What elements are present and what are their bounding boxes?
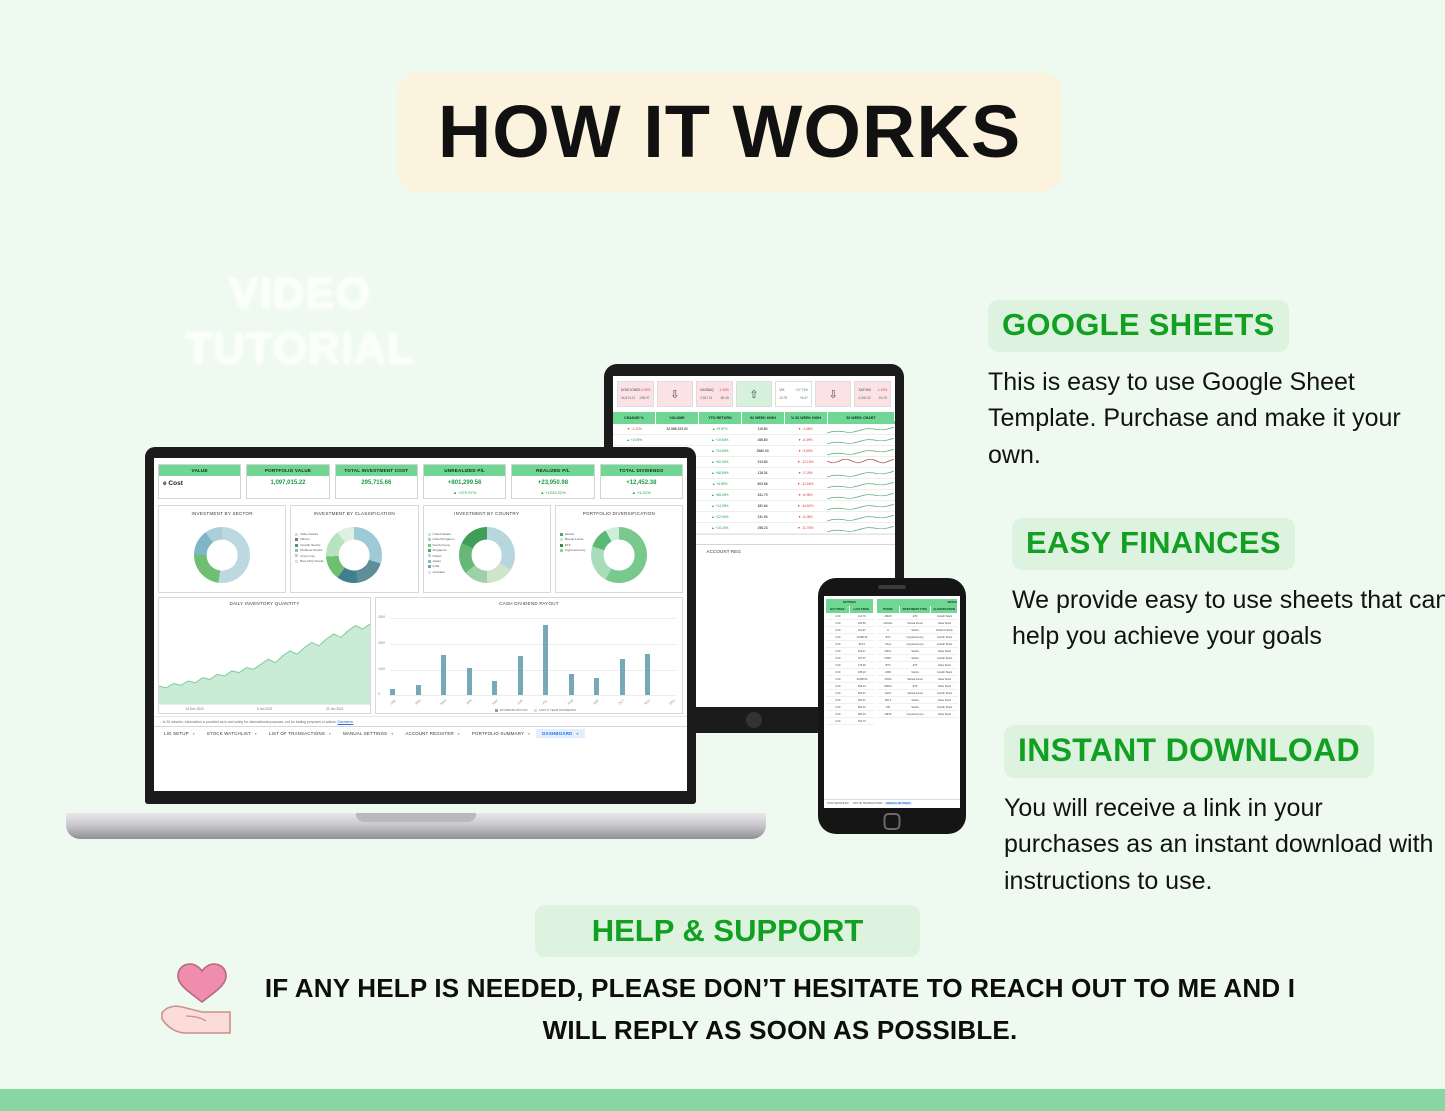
tab-item[interactable]: LIO SETUP▾ — [158, 729, 201, 738]
table-cell: 0.00 — [826, 713, 850, 716]
table-row: GOOGL Mutual Funds Value Stock — [877, 620, 958, 627]
donut-ring — [459, 527, 515, 583]
cell-change: ▲ +2.05% — [613, 438, 656, 442]
tab-item-active[interactable]: MANUAL SETTINGS — [884, 802, 912, 805]
kpi-card: TOTAL INVESTMENT COST 295,715.66 — [335, 464, 418, 499]
cell-pct-high: ▼ -11.78% — [784, 526, 827, 530]
index-delta: -54.78 — [878, 396, 887, 400]
table-cell: 902.41 — [850, 692, 874, 695]
arrow-down-icon: ⇩ — [829, 388, 838, 401]
table-cell: 180.80 — [850, 622, 874, 625]
cash-dividend-bar-chart: 3000 2000 1000 0 JANFEBMARAPRMAYJUNJULAU… — [376, 608, 682, 713]
column-header: VOLUME — [656, 412, 699, 424]
column-header: LAST PRICE — [850, 606, 874, 613]
bar — [492, 681, 497, 695]
x-tick: 04 Dec 2020 — [186, 707, 204, 711]
kpi-card: REALIZED P/L +23,950.98 ▲ +1243.22% — [511, 464, 594, 499]
bar — [645, 654, 650, 695]
feature-body: We provide easy to use sheets that can h… — [1012, 582, 1445, 655]
table-cell: Growth Stock — [931, 636, 958, 639]
table-cell: 0.00 — [826, 720, 850, 723]
table-row: 0.00180.80 — [826, 620, 874, 627]
table-cell: Stocks — [899, 650, 931, 653]
phone-right-table-title: WATCH — [877, 599, 958, 606]
table-cell: NFLX — [877, 699, 900, 702]
phone-left-table-header: BUY PRICE LAST PRICE — [826, 606, 874, 613]
table-row: TSLA Cryptocurrency Growth Stock — [877, 641, 958, 648]
table-cell: ETF — [899, 664, 931, 667]
x-tick: AUG — [566, 698, 574, 705]
kpi-row: VALUE e Cost PORTFOLIO VALUE 1,097,015.2… — [154, 458, 687, 503]
table-cell: 114.79 — [850, 615, 874, 618]
table-row: ▼ -1.12% 32,568,193.00 ▲ +9.57% 119.80 ▼… — [613, 424, 895, 435]
laptop-device: VALUE e Cost PORTFOLIO VALUE 1,097,015.2… — [66, 447, 766, 839]
table-row: 0.00962.32 — [826, 704, 874, 711]
table-row: BTC ETF Value Stock — [877, 662, 958, 669]
laptop-lid: VALUE e Cost PORTFOLIO VALUE 1,097,015.2… — [145, 447, 696, 804]
table-cell: 0.00 — [826, 692, 850, 695]
index-name: DOW JONES — [621, 388, 640, 392]
index-card-arrow-down: ⇩ — [815, 381, 852, 407]
cell-pct-high: ▼ -6.28% — [784, 515, 827, 519]
cell-sparkline — [827, 436, 895, 445]
x-tick: APR — [466, 698, 473, 705]
area-chart-svg — [159, 608, 370, 713]
table-cell: Value Stock — [931, 699, 958, 702]
table-cell: Value Stock — [931, 713, 958, 716]
tablet-table-header: CHANGE % VOLUME YTD RETURN 52 WEEK HIGH … — [613, 412, 895, 424]
feature-heading: GOOGLE SHEETS — [988, 300, 1289, 352]
cell-pct-high: ▼ -2.19% — [784, 471, 827, 475]
index-value: 34,514.21 — [621, 396, 635, 400]
index-delta: -298.97 — [639, 396, 650, 400]
cell-sparkline — [827, 513, 895, 522]
index-value: 2,847.01 — [700, 396, 712, 400]
cell-pct-high: ▼ -3.60% — [784, 449, 827, 453]
table-cell: 941.73 — [850, 720, 874, 723]
column-header: CHANGE % — [613, 412, 656, 424]
tab-item[interactable]: TOCK WATCHLIST — [825, 802, 851, 805]
donut-legend: StocksMutual FundsETFCryptocurrency — [560, 532, 586, 554]
donut-ring — [326, 527, 382, 583]
tab-item[interactable]: MANUAL SETTINGS▾ — [337, 729, 399, 738]
table-row: 0.0086.12 — [826, 641, 874, 648]
index-delta: +6.07 — [800, 396, 808, 400]
table-cell: 0.00 — [826, 657, 850, 660]
table-cell: MSFT — [877, 657, 900, 660]
table-cell: Stocks — [899, 657, 931, 660]
feature-body: You will receive a link in your purchase… — [1004, 790, 1444, 899]
tab-item[interactable]: ACCOUNT REGISTER▾ — [399, 729, 466, 738]
bar — [467, 668, 472, 695]
table-title: WATCH — [877, 599, 958, 606]
index-change: +17.71% — [795, 388, 808, 392]
donut-chart: Value StocksOthersGrowth StocksDividend … — [291, 518, 417, 592]
table-row: 0.00162.47 — [826, 648, 874, 655]
kpi-card: VALUE e Cost — [158, 464, 241, 499]
table-cell: Value Stock — [931, 685, 958, 688]
index-delta: -89.48 — [720, 396, 729, 400]
table-cell: TSLA — [877, 643, 900, 646]
cell-ytd: ▲ +19.60% — [698, 438, 741, 442]
donut-ring — [591, 527, 647, 583]
table-cell: ETF — [899, 615, 931, 618]
index-card: DOW JONES-0.09% 34,514.21-298.97 — [617, 381, 654, 407]
watermark-line-2: TUTORIAL — [150, 321, 450, 376]
bar — [416, 685, 421, 695]
table-cell: ETF — [899, 685, 931, 688]
table-row: ORCL Stocks Value Stock — [877, 648, 958, 655]
bar — [620, 659, 625, 695]
table-cell: 0.00 — [826, 615, 850, 618]
phone-device: SETTINGS BUY PRICE LAST PRICE 0.00114.79… — [818, 578, 966, 834]
area-chart-x-labels: 04 Dec 2020 6 Jan 2021 22 Jan 2021 — [159, 707, 370, 711]
help-support-banner: HELP & SUPPORT — [535, 905, 920, 957]
table-cell: Cryptocurrency — [899, 636, 931, 639]
kpi-header: TOTAL DIVIDENDS — [601, 465, 682, 476]
bar — [441, 655, 446, 695]
cell-high: 119.80 — [741, 427, 784, 431]
table-cell: Growth Stock — [931, 692, 958, 695]
table-cell: 178.96 — [850, 664, 874, 667]
y-tick: 2000 — [378, 641, 385, 645]
table-row: NFLX Stocks Value Stock — [877, 697, 958, 704]
table-cell: Mutual Funds — [899, 622, 931, 625]
table-cell: Value Stock — [931, 678, 958, 681]
kpi-value: +23,950.98 — [512, 476, 593, 490]
table-cell: Growth Stock — [931, 671, 958, 674]
feature-heading: INSTANT DOWNLOAD — [1004, 725, 1374, 778]
table-cell: Stocks — [899, 629, 931, 632]
table-cell: Mutual Funds — [899, 678, 931, 681]
table-cell: 0.00 — [826, 685, 850, 688]
table-cell: 0.00 — [826, 664, 850, 667]
cell-pct-high: ▼ -41.66% — [784, 482, 827, 486]
laptop-tab-bar: LIO SETUP▾STOCK WATCHLIST▾LIST OF TRANSA… — [154, 726, 687, 739]
donut-panel: INVESTMENT BY SECTOR — [158, 505, 286, 593]
donut-panel: INVESTMENT BY CLASSIFICATION Value Stock… — [290, 505, 418, 593]
table-cell: Growth Stock — [931, 657, 958, 660]
panel-title: PORTFOLIO DIVERSIFICATION — [556, 508, 682, 518]
donut-chart: United StatesUnited KingdomSouth KoreaSi… — [424, 518, 550, 592]
kpi-value: +12,452.38 — [601, 476, 682, 490]
cell-sparkline — [827, 469, 895, 478]
tab-item[interactable]: STOCK WATCHLIST▾ — [201, 729, 263, 738]
table-cell: Cryptocurrency — [899, 643, 931, 646]
feature-easy-finances: EASY FINANCES We provide easy to use she… — [1012, 518, 1445, 655]
x-tick: JUN — [517, 699, 524, 706]
tab-item-active[interactable]: DASHBOARD▾ — [536, 729, 584, 738]
table-row: 0.00984.10 — [826, 711, 874, 718]
table-cell: 0.00 — [826, 699, 850, 702]
table-row: 0.00114.79 — [826, 613, 874, 620]
panel-title: INVESTMENT BY CLASSIFICATION — [291, 508, 417, 518]
table-row: 0.0011,898.00 — [826, 676, 874, 683]
donut-chart — [159, 518, 285, 592]
table-row: 0.00181.97 — [826, 627, 874, 634]
column-header: TICKER — [877, 606, 900, 613]
bar-chart-panel: CASH DIVIDEND PAYOUT 3000 2000 1000 0 — [375, 597, 683, 714]
table-row: AMD Stocks Growth Stock — [877, 669, 958, 676]
panel-title: INVESTMENT BY SECTOR — [159, 508, 285, 518]
cell-pct-high: ▼ -12.16% — [784, 460, 827, 464]
kpi-header: PORTFOLIO VALUE — [247, 465, 328, 476]
bottom-accent-bar — [0, 1089, 1445, 1111]
table-cell: 0.00 — [826, 650, 850, 653]
disclaimer-text: ...is 20 minutes. Information is provide… — [160, 720, 337, 724]
y-tick: 3000 — [378, 615, 385, 619]
chart-title: CASH DIVIDEND PAYOUT — [376, 598, 682, 608]
kpi-header: TOTAL INVESTMENT COST — [336, 465, 417, 476]
page-title: HOW IT WORKS — [438, 95, 1021, 169]
column-header: 52 WEEK CHART — [828, 412, 895, 421]
donut-legend: Value StocksOthersGrowth StocksDividend … — [295, 532, 324, 564]
kpi-delta: ▲ +4.21% — [601, 490, 682, 498]
table-cell: GOOGL — [877, 622, 900, 625]
phone-left-table-title: SETTINGS — [826, 599, 874, 606]
cell-pct-high: ▼ -2.68% — [784, 427, 827, 431]
column-header: BUY PRICE — [826, 606, 850, 613]
table-row: 0.00941.73 — [826, 718, 874, 725]
table-row: META Cryptocurrency Value Stock — [877, 711, 958, 718]
table-row: LI Stocks Dividend Stock — [877, 627, 958, 634]
table-row: 0.00902.41 — [826, 690, 874, 697]
legend-item: Dividend Stocks — [295, 548, 324, 553]
y-tick: 0 — [378, 692, 380, 696]
laptop-base — [66, 813, 766, 839]
table-cell: 187.07 — [850, 657, 874, 660]
legend-item: Cryptocurrency — [560, 548, 586, 553]
daily-inventory-area-chart: 04 Dec 2020 6 Jan 2021 22 Jan 2021 — [159, 608, 370, 713]
index-card: VIX+17.71% 13.79+6.07 — [775, 381, 812, 407]
table-cell: ORCL — [877, 650, 900, 653]
column-header: YTD RETURN — [699, 412, 742, 424]
table-row: NVDA Mutual Funds Value Stock — [877, 676, 958, 683]
kpi-header: VALUE — [159, 465, 240, 476]
table-cell: BTC — [877, 636, 900, 639]
kpi-value: e Cost — [159, 476, 240, 491]
kpi-card: PORTFOLIO VALUE 1,097,015.22 — [246, 464, 329, 499]
watermark-line-1: VIDEO — [150, 266, 450, 321]
chart-title: DAILY INVENTORY QUANTITY — [159, 598, 370, 608]
table-cell: LI — [877, 629, 900, 632]
table-cell: 205.20 — [850, 671, 874, 674]
laptop-disclaimer: ...is 20 minutes. Information is provide… — [154, 716, 687, 726]
bar-series — [390, 618, 676, 695]
index-name: S&P 500 — [858, 388, 871, 392]
table-cell: 902.41 — [850, 699, 874, 702]
table-cell: Value Stock — [931, 650, 958, 653]
x-tick: MAR — [440, 698, 448, 705]
table-row: DIS Stocks Growth Stock — [877, 704, 958, 711]
tab-item[interactable]: LIST OF TRANSACTIONS — [851, 802, 885, 805]
table-row: ▲ +2.05% ▲ +19.60% 165.80 ▼ -8.39% — [613, 435, 895, 446]
phone-speaker — [878, 585, 906, 589]
help-support-text: IF ANY HELP IS NEEDED, PLEASE DON’T HESI… — [235, 968, 1325, 1051]
tab-item[interactable]: LIST OF TRANSACTIONS▾ — [263, 729, 337, 738]
cell-change: ▼ -1.12% — [613, 427, 656, 431]
column-header: CLASSIFICATION — [931, 606, 958, 613]
chart-row: DAILY INVENTORY QUANTITY 04 Dec 2020 6 J… — [154, 595, 687, 716]
table-cell: META — [877, 713, 900, 716]
table-row: 0.00902.41 — [826, 697, 874, 704]
help-support-heading: HELP & SUPPORT — [592, 913, 864, 949]
feature-instant-download: INSTANT DOWNLOAD You will receive a link… — [1004, 725, 1444, 899]
table-title: SETTINGS — [826, 599, 874, 606]
feature-body: This is easy to use Google Sheet Templat… — [988, 364, 1428, 473]
donut-ring — [194, 527, 250, 583]
cell-sparkline — [827, 458, 895, 467]
table-cell: 0.00 — [826, 678, 850, 681]
kpi-value: 295,715.66 — [336, 476, 417, 490]
laptop-screen: VALUE e Cost PORTFOLIO VALUE 1,097,015.2… — [154, 458, 687, 791]
column-header: INVESTMENT TYPE — [900, 606, 931, 613]
table-cell: 86.12 — [850, 643, 874, 646]
table-row: 0.00187.07 — [826, 655, 874, 662]
column-header: 52 WEEK HIGH — [742, 412, 785, 424]
phone-right-table: WATCH TICKER INVESTMENT TYPE CLASSIFICAT… — [877, 599, 958, 796]
table-cell: Value Stock — [931, 664, 958, 667]
kpi-delta: ▲ +1243.22% — [512, 490, 593, 498]
table-cell: 962.32 — [850, 706, 874, 709]
table-row: AMZN ETF Growth Stock — [877, 613, 958, 620]
bar-chart-legend: DIVIDEND PAYOUT LAST 5 YEAR DIVIDENDS — [380, 708, 686, 712]
x-tick: OCT — [617, 698, 625, 705]
x-tick: MAY — [491, 698, 499, 705]
legend-label: DIVIDEND PAYOUT — [500, 708, 528, 712]
phone-body: SETTINGS BUY PRICE LAST PRICE 0.00114.79… — [818, 578, 966, 834]
table-row: 0.00178.96 — [826, 662, 874, 669]
laptop-spreadsheet: VALUE e Cost PORTFOLIO VALUE 1,097,015.2… — [154, 458, 687, 791]
table-cell: Value Stock — [931, 622, 958, 625]
table-cell: Growth Stock — [931, 706, 958, 709]
bar — [518, 656, 523, 695]
cell-sparkline — [827, 502, 895, 511]
table-cell: 0.00 — [826, 636, 850, 639]
bar-chart-x-labels: JANFEBMARAPRMAYJUNJULAUGSEPOCTNOVDEC — [390, 700, 676, 704]
tablet-index-cards: DOW JONES-0.09% 34,514.21-298.97 ⇩ NASDA… — [613, 376, 895, 412]
table-cell: DIS — [877, 706, 900, 709]
table-row: 0.00908.44 — [826, 683, 874, 690]
table-cell: 0.00 — [826, 622, 850, 625]
table-cell: 162.47 — [850, 650, 874, 653]
page-root: HOW IT WORKS VIDEO TUTORIAL GOOGLE SHEET… — [0, 0, 1445, 1111]
table-cell: 0.00 — [826, 643, 850, 646]
laptop-trackpad-notch — [356, 813, 476, 822]
arrow-up-icon: ⇧ — [749, 388, 758, 401]
table-cell: Mutual Funds — [899, 692, 931, 695]
phone-home-button[interactable] — [884, 813, 901, 830]
cell-sparkline — [827, 447, 895, 456]
table-cell: 181.97 — [850, 629, 874, 632]
index-value: 13.79 — [779, 396, 787, 400]
table-cell: BTC — [877, 664, 900, 667]
kpi-delta: ▲ +270.97% — [424, 490, 505, 498]
index-card-arrow-down: ⇩ — [657, 381, 694, 407]
feature-google-sheets: GOOGLE SHEETS This is easy to use Google… — [988, 300, 1428, 473]
table-row: 0.00205.20 — [826, 669, 874, 676]
index-value: 4,430.42 — [858, 396, 870, 400]
donut-panel: PORTFOLIO DIVERSIFICATION StocksMutual F… — [555, 505, 683, 593]
table-cell: Stocks — [899, 671, 931, 674]
phone-spreadsheet: SETTINGS BUY PRICE LAST PRICE 0.00114.79… — [824, 596, 960, 808]
phone-left-table: SETTINGS BUY PRICE LAST PRICE 0.00114.79… — [826, 599, 874, 796]
disclaimer-link[interactable]: Disclaimer — [338, 720, 354, 724]
table-cell: AMD — [877, 671, 900, 674]
donut-legend: United StatesUnited KingdomSouth KoreaSi… — [428, 532, 455, 575]
table-cell: MRNA — [877, 685, 900, 688]
table-cell: 0.00 — [826, 629, 850, 632]
cell-ytd: ▲ +9.57% — [698, 427, 741, 431]
x-tick: SEP — [592, 698, 599, 705]
x-tick: DEC — [669, 698, 677, 705]
index-name: VIX — [779, 388, 784, 392]
table-cell: Growth Stock — [931, 615, 958, 618]
cell-sparkline — [827, 480, 895, 489]
kpi-card: TOTAL DIVIDENDS +12,452.38 ▲ +4.21% — [600, 464, 683, 499]
index-name: NASDAQ — [700, 388, 713, 392]
index-card: S&P 500-1.13% 4,430.42-54.78 — [854, 381, 891, 407]
table-row: BTC Cryptocurrency Growth Stock — [877, 634, 958, 641]
feature-heading: EASY FINANCES — [1012, 518, 1295, 570]
index-change: -0.09% — [640, 388, 650, 392]
table-row: MRNA ETF Value Stock — [877, 683, 958, 690]
table-cell: 0.00 — [826, 671, 850, 674]
table-cell: 908.44 — [850, 685, 874, 688]
x-tick: NOV — [643, 698, 651, 705]
cell-sparkline — [827, 491, 895, 500]
table-cell: Cryptocurrency — [899, 713, 931, 716]
kpi-value: 1,097,015.22 — [247, 476, 328, 490]
cell-high: 165.80 — [741, 438, 784, 442]
tab-item[interactable]: PORTFOLIO SUMMARY▾ — [466, 729, 536, 738]
kpi-card: UNREALIZED P/L +801,299.56 ▲ +270.97% — [423, 464, 506, 499]
page-title-banner: HOW IT WORKS — [397, 72, 1062, 192]
cell-pct-high: ▼ -44.82% — [784, 504, 827, 508]
table-cell: Stocks — [899, 706, 931, 709]
phone-tab-bar: TOCK WATCHLIST LIST OF TRANSACTIONS MANU… — [824, 799, 960, 806]
table-row: 0.0011,588.40 — [826, 634, 874, 641]
panel-title: INVESTMENT BY COUNTRY — [424, 508, 550, 518]
table-cell: 11,588.40 — [850, 636, 874, 639]
phone-left-table-body: 0.00114.790.00180.800.00181.970.0011,588… — [826, 613, 874, 725]
bar — [543, 625, 548, 695]
x-tick: FEB — [414, 699, 421, 706]
x-tick: JUL — [542, 699, 549, 706]
phone-screen: SETTINGS BUY PRICE LAST PRICE 0.00114.79… — [824, 596, 960, 808]
bar — [569, 674, 574, 695]
table-cell: 0.00 — [826, 706, 850, 709]
donut-panel: INVESTMENT BY COUNTRY United StatesUnite… — [423, 505, 551, 593]
table-cell: AAPL — [877, 692, 900, 695]
legend-label: LAST 5 YEAR DIVIDENDS — [539, 708, 576, 712]
table-cell: Stocks — [899, 699, 931, 702]
index-change: -1.20% — [719, 388, 729, 392]
table-cell: Growth Stock — [931, 643, 958, 646]
phone-right-table-body: AMZN ETF Growth StockGOOGL Mutual Funds … — [877, 613, 958, 718]
table-cell: 11,898.00 — [850, 678, 874, 681]
phone-right-table-header: TICKER INVESTMENT TYPE CLASSIFICATION — [877, 606, 958, 613]
table-cell: AMZN — [877, 615, 900, 618]
x-tick: JAN — [389, 699, 396, 706]
y-tick: 1000 — [378, 667, 385, 671]
area-chart-panel: DAILY INVENTORY QUANTITY 04 Dec 2020 6 J… — [158, 597, 371, 714]
legend-item: Blue Chip Stocks — [295, 559, 324, 564]
arrow-down-icon: ⇩ — [670, 388, 679, 401]
kpi-value: +801,299.56 — [424, 476, 505, 490]
video-tutorial-watermark: VIDEO TUTORIAL — [150, 266, 450, 376]
bar — [390, 689, 395, 695]
